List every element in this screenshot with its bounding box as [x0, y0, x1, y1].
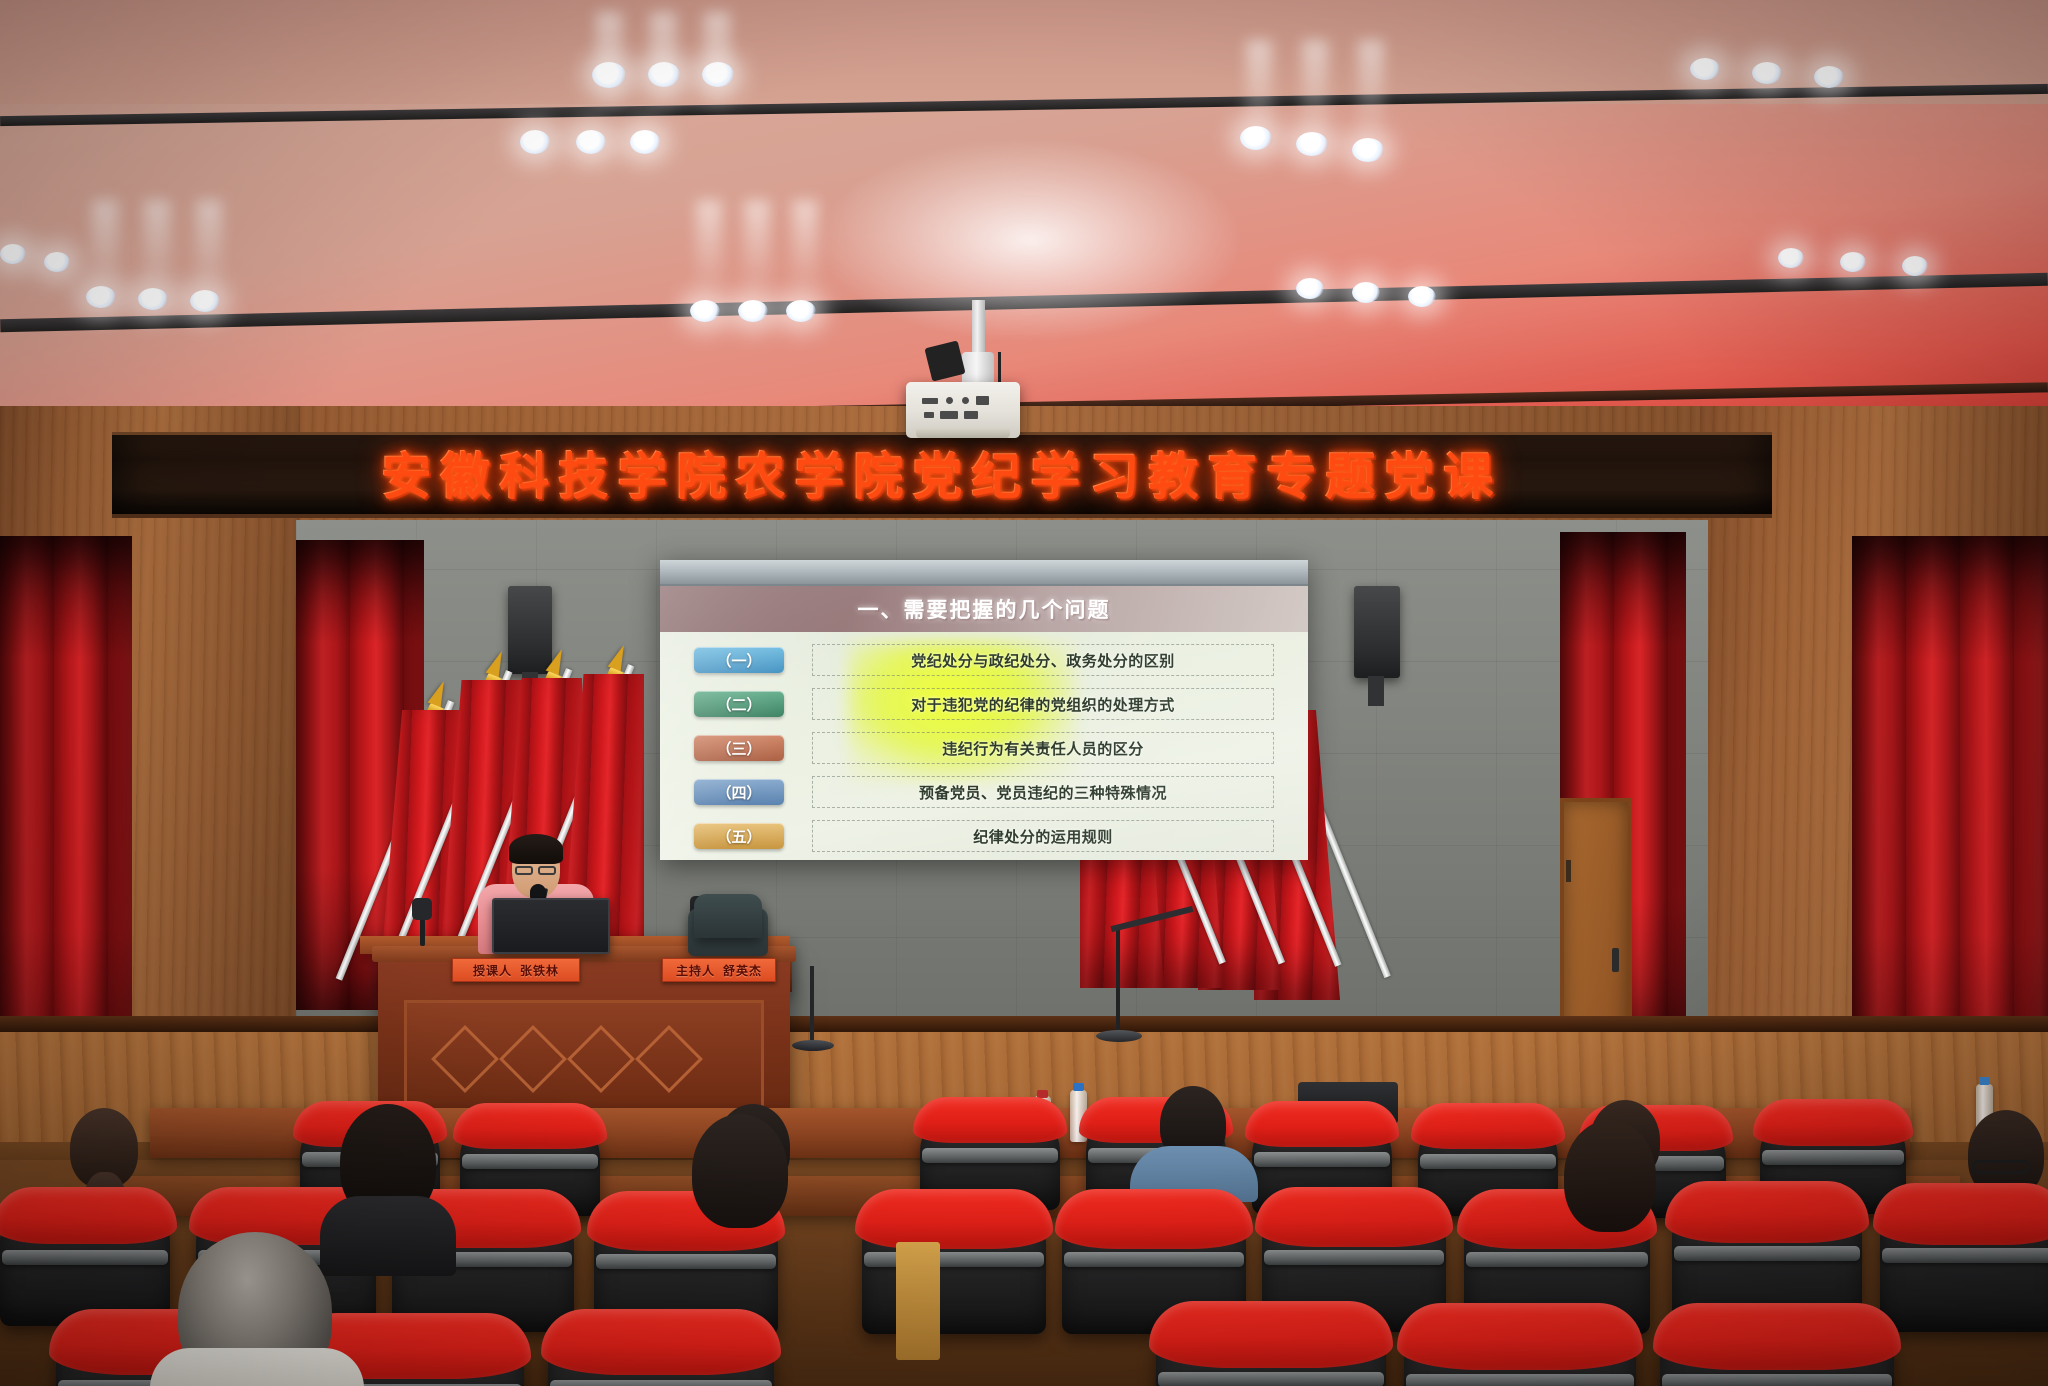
downlight: [1814, 66, 1844, 88]
attendee-head: [1564, 1120, 1656, 1232]
downlight: [1296, 132, 1328, 156]
slide-title-bar: 一、需要把握的几个问题: [660, 586, 1308, 632]
slide-item-chip: （二）: [694, 691, 784, 717]
downlight: [520, 130, 550, 154]
lecturer-glasses-icon: [538, 866, 556, 875]
downlight: [786, 300, 816, 322]
attendee-shoulders: [320, 1196, 456, 1276]
ceiling-glow: [820, 140, 1240, 340]
slide-item-list: （一） 党纪处分与政纪处分、政务处分的区别 （二） 对于违犯党的纪律的党组织的处…: [660, 638, 1308, 858]
nameplate-lecturer: 授课人 张铁林: [452, 958, 580, 982]
downlight: [1296, 278, 1324, 299]
slide-row: （二） 对于违犯党的纪律的党组织的处理方式: [694, 682, 1274, 726]
downlight: [44, 252, 70, 272]
nameplate-lecturer-name: 张铁林: [520, 962, 559, 979]
downlight: [1690, 58, 1720, 80]
downlight: [1778, 248, 1804, 268]
podium-front-panel: [404, 1000, 764, 1116]
projector: [906, 382, 1020, 438]
downlight: [738, 300, 768, 322]
seat[interactable]: [548, 1318, 774, 1386]
auditorium-photo: 安徽科技学院农学院党纪学习教育专题党课: [0, 0, 2048, 1386]
stand-left: [810, 966, 814, 1044]
downlight: [1240, 126, 1272, 150]
seat[interactable]: [862, 1198, 1046, 1334]
downlight: [1352, 138, 1384, 162]
floor-mic-stand: [1116, 930, 1120, 1034]
downlight: [576, 130, 606, 154]
lecturer-glasses-icon: [515, 866, 533, 875]
downlight: [86, 286, 116, 308]
downlight: [1352, 282, 1380, 303]
bottle-cap-icon: [1979, 1077, 1990, 1085]
downlight: [702, 62, 734, 87]
banner-title-text: 安徽科技学院农学院党纪学习教育专题党课: [382, 437, 1503, 509]
laptop[interactable]: [492, 898, 610, 954]
slide-item-chip: （四）: [694, 779, 784, 805]
nameplate-host-name: 舒英杰: [723, 962, 762, 979]
wall-speaker-right-mount: [1368, 676, 1384, 706]
door-handle-icon: [1612, 948, 1619, 972]
downlight: [1840, 252, 1866, 272]
slide-item-chip: （五）: [694, 823, 784, 849]
floor-mic-base: [1096, 1030, 1142, 1042]
downlight: [1902, 256, 1928, 276]
seat[interactable]: [0, 1196, 170, 1326]
attendee-eyeglasses-icon: [1972, 1160, 2030, 1174]
slide-row: （三） 违纪行为有关责任人员的区分: [694, 726, 1274, 770]
slide-item-chip: （一）: [694, 647, 784, 673]
attendee-head: [692, 1114, 788, 1228]
downlight: [1752, 62, 1782, 84]
downlight: [190, 290, 220, 312]
slide-title-text: 一、需要把握的几个问题: [858, 594, 1111, 624]
slide-row: （四） 预备党员、党员违纪的三种特殊情况: [694, 770, 1274, 814]
desk-microphone-left-head: [412, 898, 432, 920]
curtain-far-left: [0, 536, 132, 1096]
wall-speaker-right: [1354, 586, 1400, 678]
nameplate-host: 主持人 舒英杰: [662, 958, 776, 982]
slide-item-label: 纪律处分的运用规则: [812, 820, 1274, 852]
nameplate-host-text: 主持人: [676, 962, 715, 979]
seat[interactable]: [1660, 1312, 1894, 1386]
slide-item-label: 预备党员、党员违纪的三种特殊情况: [812, 776, 1274, 808]
presentation-slide: 一、需要把握的几个问题 （一） 党纪处分与政纪处分、政务处分的区别 （二） 对于…: [660, 586, 1308, 860]
downlight: [0, 244, 26, 264]
downlight: [1408, 286, 1436, 307]
downlight: [592, 62, 626, 88]
door-hinge-icon: [1566, 860, 1571, 882]
nameplate-lecturer-text: 授课人: [473, 962, 512, 979]
stand-left-base: [792, 1040, 834, 1051]
wall-speaker-left: [508, 586, 552, 674]
seat[interactable]: [1156, 1310, 1386, 1386]
slide-row: （一） 党纪处分与政纪处分、政务处分的区别: [694, 638, 1274, 682]
downlight: [690, 300, 720, 322]
seat[interactable]: [1404, 1312, 1636, 1386]
lecturer-hair: [509, 834, 563, 864]
projector-lens-base: [916, 428, 1010, 438]
downlight: [630, 130, 660, 154]
attendee-shoulders: [150, 1348, 364, 1386]
screen-top-rail: [660, 560, 1308, 586]
event-banner: 安徽科技学院农学院党纪学习教育专题党课: [112, 432, 1772, 518]
projection-screen: 一、需要把握的几个问题 （一） 党纪处分与政纪处分、政务处分的区别 （二） 对于…: [660, 560, 1308, 860]
stage-front-edge: [0, 1016, 2048, 1032]
aisle-step-marker: [896, 1242, 940, 1360]
slide-item-label: 对于违犯党的纪律的党组织的处理方式: [812, 688, 1274, 720]
host-chair-back: [694, 894, 762, 938]
slide-item-label: 违纪行为有关责任人员的区分: [812, 732, 1274, 764]
slide-item-label: 党纪处分与政纪处分、政务处分的区别: [812, 644, 1274, 676]
downlight: [648, 62, 680, 87]
slide-row: （五） 纪律处分的运用规则: [694, 814, 1274, 858]
seat[interactable]: [1880, 1192, 2048, 1332]
bottle-cap-icon: [1073, 1083, 1084, 1091]
slide-item-chip: （三）: [694, 735, 784, 761]
downlight: [138, 288, 168, 310]
